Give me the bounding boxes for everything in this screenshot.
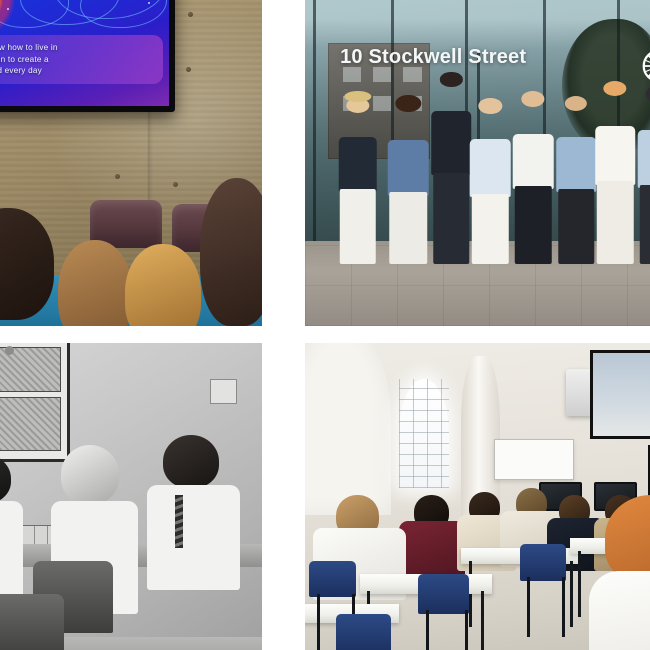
gallery-photo-classroom-bw[interactable] (0, 343, 262, 650)
university-logo: U G (642, 49, 650, 83)
wall-bolt-icon (173, 182, 178, 187)
gallery-photo-stockwell-street[interactable]: 10 Stockwell Street (305, 0, 650, 326)
slide-caption: roNinjas know how to live in beautiful b… (0, 35, 163, 84)
slide-caption-line-3: alanced mind every day (0, 65, 154, 77)
student-head (163, 435, 219, 488)
seminar-chair (418, 574, 469, 614)
whiteboard (494, 439, 574, 481)
classroom-chair (0, 594, 64, 650)
seminar-chair (336, 614, 391, 650)
student-body (399, 521, 465, 580)
audience-member (200, 178, 262, 326)
wall-mounted-display: roNinjas know how to live in beautiful b… (0, 0, 175, 112)
photo-brain-lecture-canvas: roNinjas know how to live in beautiful b… (0, 0, 262, 326)
wall-poster-board (0, 343, 70, 462)
school-tie (175, 495, 183, 548)
wall-bolt-icon (188, 12, 193, 17)
photo-stockwell-canvas: 10 Stockwell Street (305, 0, 650, 326)
slide-caption-line-1: roNinjas know how to live in (0, 42, 154, 54)
slide-caption-line-2: beautiful brain to create a (0, 54, 154, 66)
foreground-person-hair (605, 495, 650, 583)
light-switch-icon (210, 379, 237, 404)
audience-member (125, 244, 201, 326)
photo-gallery-grid: roNinjas know how to live in beautiful b… (0, 0, 650, 650)
wall-arch (305, 343, 391, 515)
seminar-chair (309, 561, 356, 597)
building-address-sign: 10 Stockwell Street (340, 46, 526, 69)
arched-window (399, 379, 450, 488)
presentation-slide: roNinjas know how to live in beautiful b… (0, 0, 169, 106)
foreground-person-shirt (589, 571, 650, 650)
seminar-chair (520, 544, 567, 580)
wall-bolt-icon (186, 67, 191, 72)
gallery-photo-brain-lecture[interactable]: roNinjas know how to live in beautiful b… (0, 0, 262, 326)
audience-member (58, 240, 132, 326)
compass-rose-icon (642, 49, 650, 83)
projector-screen: Com Ear (590, 350, 650, 439)
photo-classroom-canvas (0, 343, 262, 650)
student-head (61, 445, 120, 504)
foreground-person (594, 495, 650, 650)
photo-seminar-canvas: Com Ear N on you (305, 343, 650, 650)
gallery-photo-seminar-room[interactable]: Com Ear N on you (305, 343, 650, 650)
wall-clock-icon (5, 346, 14, 355)
person-in-group (633, 91, 650, 261)
wall-bolt-icon (115, 174, 120, 179)
person-in-group (332, 98, 383, 261)
student-body (147, 485, 240, 591)
